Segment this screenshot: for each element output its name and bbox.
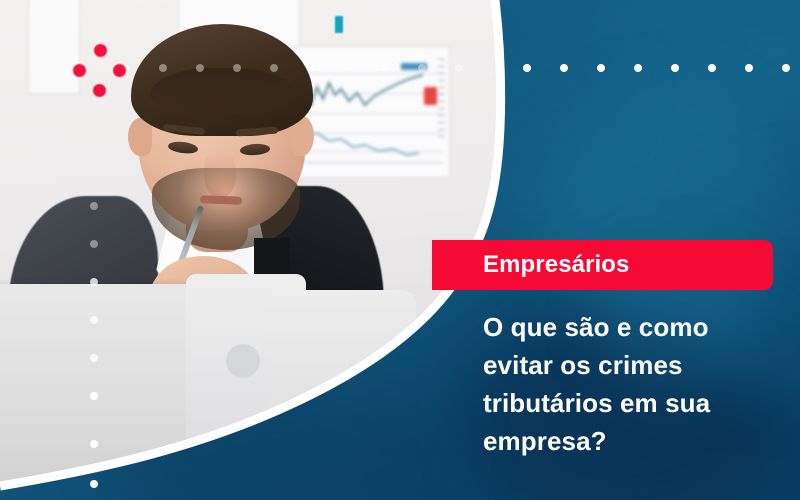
hair-fringe bbox=[150, 68, 296, 114]
headline-line: tributários em sua bbox=[483, 384, 783, 422]
promo-banner: Empresários O que são e como evitar os c… bbox=[0, 0, 800, 500]
headline-line: evitar os crimes bbox=[483, 346, 783, 384]
category-badge[interactable]: Empresários bbox=[432, 240, 773, 290]
mouth bbox=[200, 195, 242, 204]
category-badge-label: Empresários bbox=[483, 253, 630, 277]
headline-line: O que são e como bbox=[483, 308, 783, 346]
headline-line: empresa? bbox=[483, 422, 783, 460]
laptop-logo bbox=[226, 344, 260, 378]
headline: O que são e como evitar os crimes tribut… bbox=[483, 308, 783, 460]
